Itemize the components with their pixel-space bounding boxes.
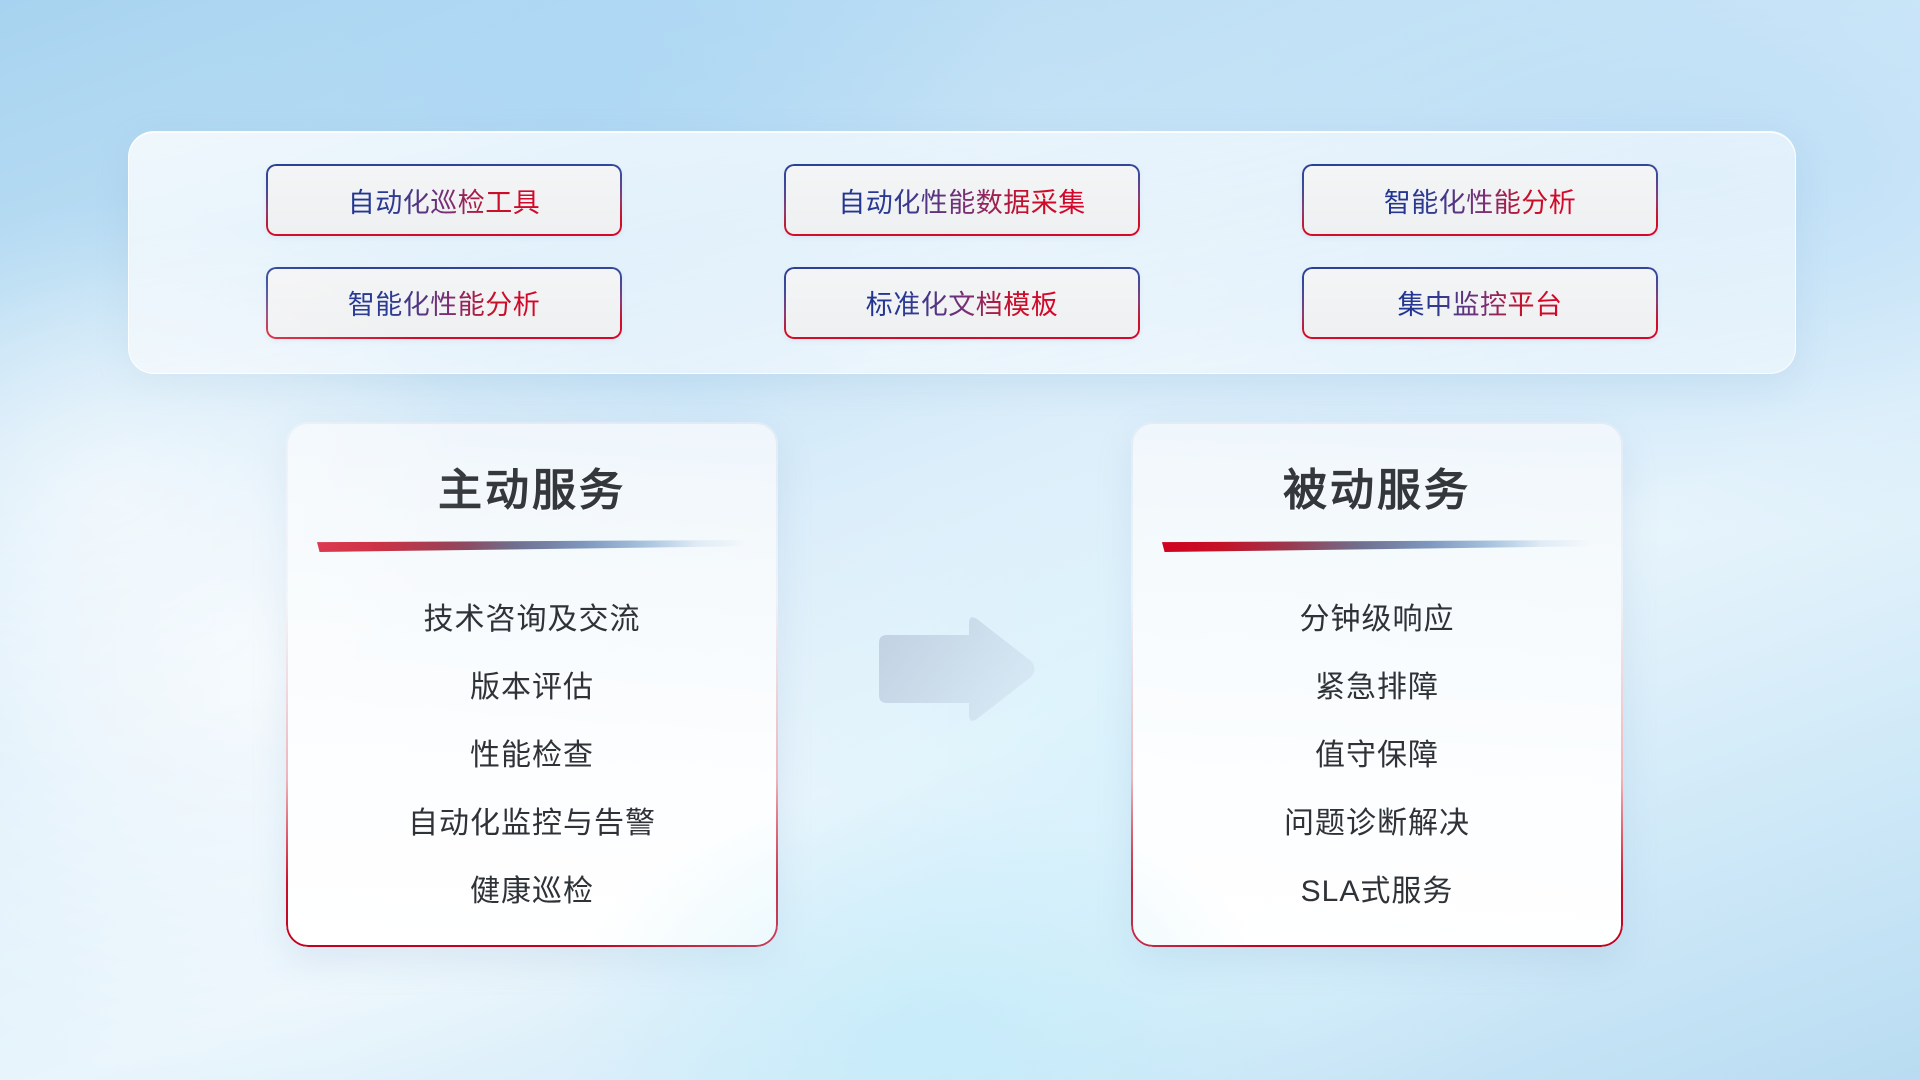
list-item: 分钟级响应: [1300, 586, 1455, 654]
capability-chip-6[interactable]: 集中监控平台: [1302, 267, 1658, 339]
divider-bar: [1162, 540, 1592, 552]
list-item: 性能检查: [470, 722, 594, 790]
capability-chip-5[interactable]: 标准化文档模板: [784, 267, 1140, 339]
card-title: 被动服务: [1131, 454, 1623, 518]
service-card-active[interactable]: 主动服务 技术咨询及交流 版本评估 性能检查 自动化监控与告警 健康巡检: [286, 422, 778, 947]
card-item-list: 技术咨询及交流 版本评估 性能检查 自动化监控与告警 健康巡检: [286, 586, 778, 926]
list-item: 版本评估: [470, 654, 594, 722]
list-item: 值守保障: [1315, 722, 1439, 790]
list-item: 紧急排障: [1315, 654, 1439, 722]
list-item: 健康巡检: [470, 858, 594, 926]
list-item: 问题诊断解决: [1284, 790, 1470, 858]
service-card-passive[interactable]: 被动服务 分钟级响应 紧急排障 值守保障 问题诊断解决 SLA式服务: [1131, 422, 1623, 947]
card-item-list: 分钟级响应 紧急排障 值守保障 问题诊断解决 SLA式服务: [1131, 586, 1623, 926]
list-item: 自动化监控与告警: [408, 790, 656, 858]
capability-chip-2[interactable]: 自动化性能数据采集: [784, 164, 1140, 236]
capability-chip-label: 自动化性能数据采集: [838, 181, 1086, 220]
capability-chip-label: 集中监控平台: [1398, 283, 1563, 322]
capability-chip-label: 自动化巡检工具: [348, 181, 541, 220]
capability-chip-3[interactable]: 智能化性能分析: [1302, 164, 1658, 236]
list-item: SLA式服务: [1301, 858, 1454, 926]
right-arrow-icon: [873, 613, 1039, 725]
card-title: 主动服务: [286, 454, 778, 518]
capability-panel: 自动化巡检工具 自动化性能数据采集 智能化性能分析 智能化性能分析 标准化文档模…: [128, 131, 1796, 374]
capability-chip-1[interactable]: 自动化巡检工具: [266, 164, 622, 236]
capability-chip-4[interactable]: 智能化性能分析: [266, 267, 622, 339]
capability-chip-label: 标准化文档模板: [866, 283, 1059, 322]
card-divider: [317, 540, 747, 552]
list-item: 技术咨询及交流: [424, 586, 641, 654]
divider-bar: [317, 540, 747, 552]
slide-canvas: 自动化巡检工具 自动化性能数据采集 智能化性能分析 智能化性能分析 标准化文档模…: [0, 0, 1920, 1080]
capability-chip-label: 智能化性能分析: [1384, 181, 1577, 220]
capability-chip-label: 智能化性能分析: [348, 283, 541, 322]
card-divider: [1162, 540, 1592, 552]
